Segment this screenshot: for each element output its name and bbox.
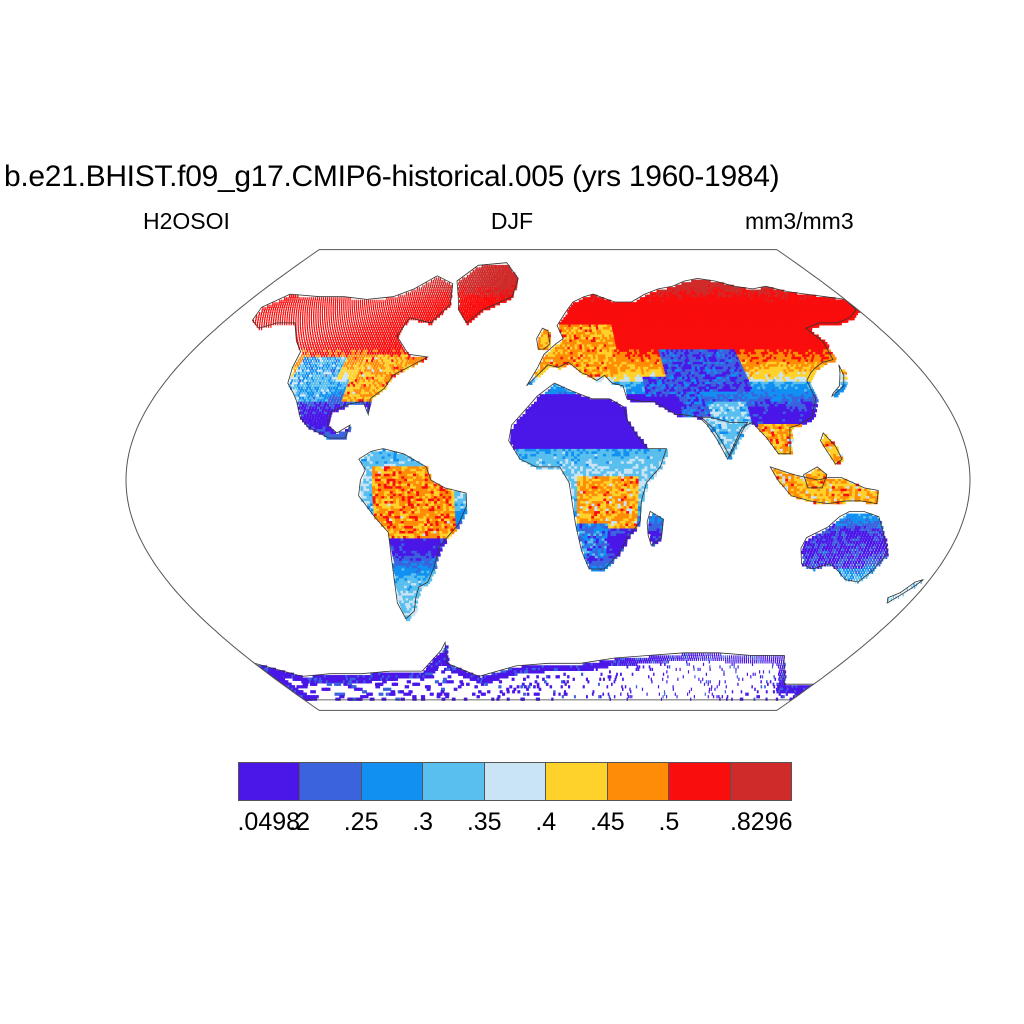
map-plot: [0, 236, 1024, 736]
world-map-svg: [0, 236, 1024, 736]
colorbar-label-3: .3: [412, 808, 433, 837]
colorbar-label-7: .5: [658, 808, 679, 837]
figure-title: b.e21.BHIST.f09_g17.CMIP6-historical.005…: [4, 160, 779, 194]
colorbar-swatch-2[interactable]: [362, 763, 423, 800]
colorbar-swatch-3[interactable]: [423, 763, 484, 800]
colorbar-swatch-5[interactable]: [546, 763, 607, 800]
colorbar-label-4: .35: [467, 808, 502, 837]
colorbar-label-5: .4: [535, 808, 556, 837]
figure-canvas: b.e21.BHIST.f09_g17.CMIP6-historical.005…: [0, 0, 1024, 1024]
colorbar-swatch-6[interactable]: [608, 763, 669, 800]
units-label: mm3/mm3: [745, 208, 854, 235]
colorbar-label-8: .8296: [730, 808, 793, 837]
colorbar-tick-labels: .0498.2.25.3.35.4.45.5.8296: [0, 808, 1024, 842]
colorbar-swatch-0[interactable]: [239, 763, 300, 800]
colorbar[interactable]: [238, 762, 792, 801]
colorbar-swatch-4[interactable]: [485, 763, 546, 800]
colorbar-swatch-1[interactable]: [300, 763, 361, 800]
colorbar-swatch-8[interactable]: [731, 763, 791, 800]
colorbar-label-1: .2: [289, 808, 310, 837]
colorbar-label-6: .45: [590, 808, 625, 837]
colorbar-swatch-7[interactable]: [669, 763, 730, 800]
colorbar-label-2: .25: [344, 808, 379, 837]
season-label: DJF: [0, 208, 1024, 235]
